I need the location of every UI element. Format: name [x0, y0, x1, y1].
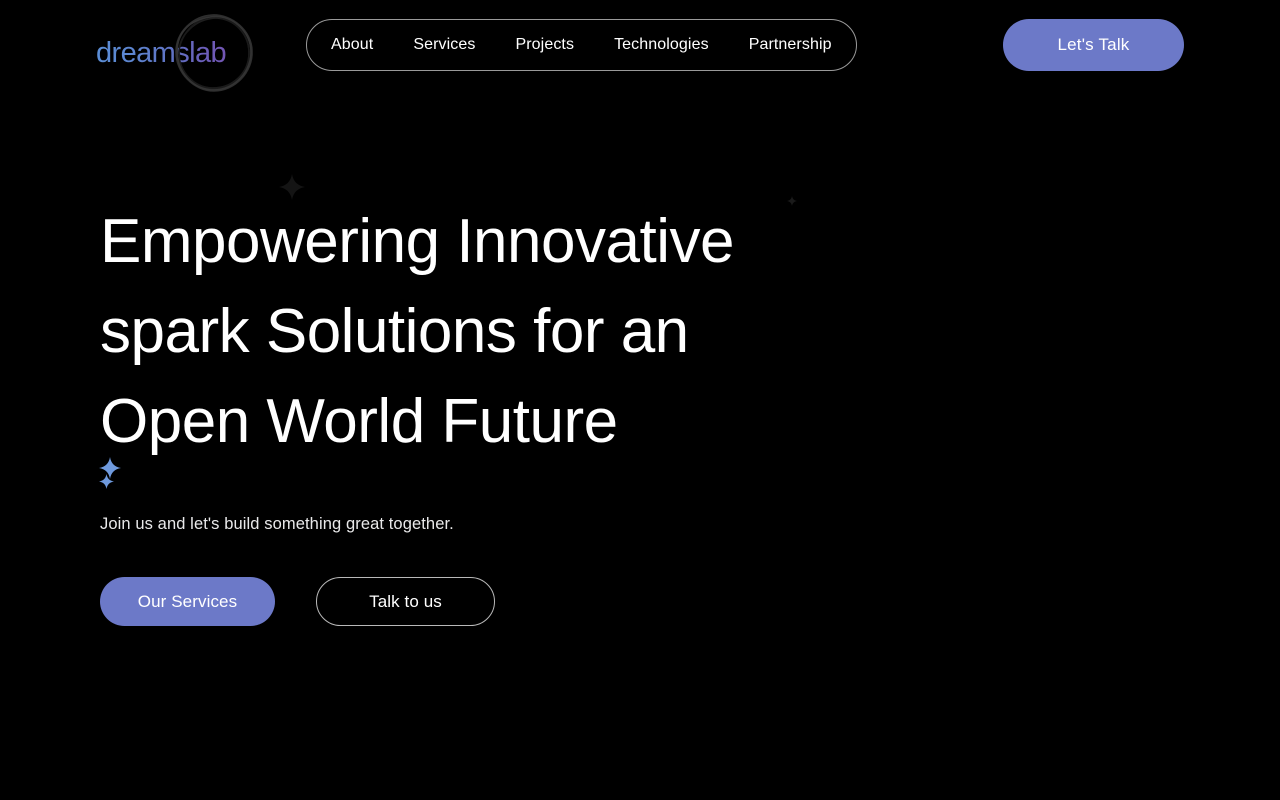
- sparkle-icon-small: [99, 474, 114, 489]
- hero-heading-line-1: Empowering Innovative: [100, 197, 860, 287]
- landing-page: dreamslab About Services Projects Techno…: [0, 0, 1280, 800]
- hero-section: Empowering Innovative spark Solutions fo…: [0, 0, 1280, 800]
- hero-actions: Our Services Talk to us: [100, 577, 495, 626]
- hero-heading-line-3: Open World Future: [100, 377, 860, 467]
- our-services-button[interactable]: Our Services: [100, 577, 275, 626]
- hero-heading: Empowering Innovative spark Solutions fo…: [100, 197, 860, 467]
- hero-subtitle: Join us and let's build something great …: [100, 515, 454, 534]
- talk-to-us-button[interactable]: Talk to us: [316, 577, 495, 626]
- hero-heading-line-2: spark Solutions for an: [100, 287, 860, 377]
